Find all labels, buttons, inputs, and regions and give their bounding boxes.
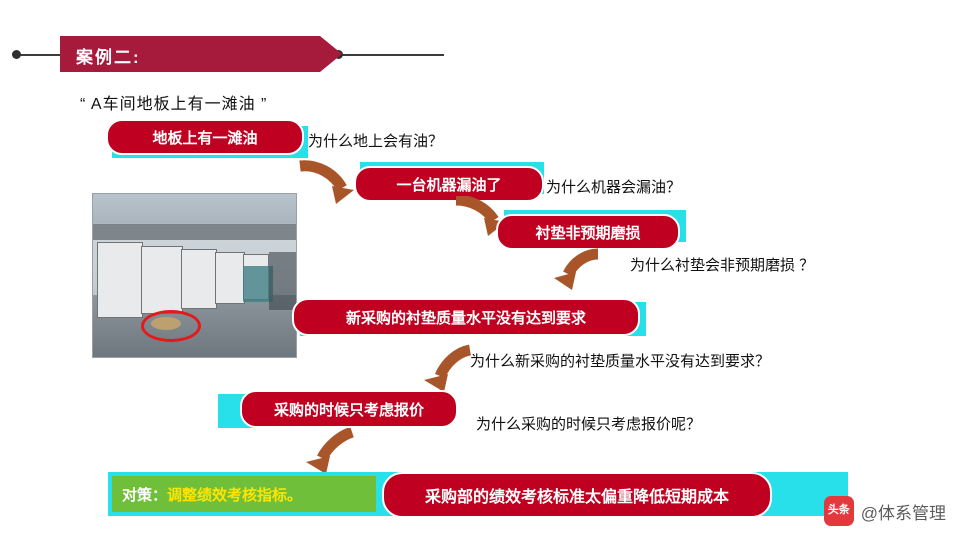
step-2-box: 一台机器漏油了 xyxy=(354,166,544,202)
countermeasure-value: 调整绩效考核指标。 xyxy=(167,484,302,505)
photo-machine xyxy=(181,249,217,309)
arrow-step-1-to-2 xyxy=(296,160,360,208)
arrow-step-5-to-conclusion xyxy=(300,428,366,478)
header-banner-label: 案例二: xyxy=(76,43,141,68)
countermeasure-bar: 对策： 调整绩效考核指标。 xyxy=(112,476,376,512)
header-dot-left xyxy=(12,50,21,59)
countermeasure-label: 对策： xyxy=(112,484,167,505)
photo-ceiling-beam xyxy=(93,224,296,240)
step-4-box: 新采购的衬垫质量水平没有达到要求 xyxy=(292,298,640,336)
step-4-question: 为什么新采购的衬垫质量水平没有达到要求？ xyxy=(470,350,770,371)
step-3-box: 衬垫非预期磨损 xyxy=(496,214,680,250)
root-cause-box: 采购部的绩效考核标准太偏重降低短期成本 xyxy=(382,472,772,518)
watermark-text: @体系管理 xyxy=(861,499,946,524)
step-5-question: 为什么采购的时候只考虑报价呢？ xyxy=(476,413,701,434)
arrow-step-4-to-5 xyxy=(416,344,482,396)
arrow-step-3-to-4 xyxy=(548,248,610,296)
workshop-photo xyxy=(92,193,297,358)
page-title: “ A车间地板上有一滩油 ” xyxy=(80,90,267,114)
watermark: 头条 @体系管理 xyxy=(824,496,946,526)
step-1-box: 地板上有一滩油 xyxy=(106,119,304,155)
photo-machine xyxy=(97,242,143,318)
toutiao-logo-icon: 头条 xyxy=(824,496,854,526)
step-1-question: 为什么地上会有油？ xyxy=(308,130,443,151)
slide-root: 案例二: “ A车间地板上有一滩油 ” 地板上有一滩油 为什么地上会有油？ 一台… xyxy=(0,0,960,540)
step-2-question: 为什么机器会漏油？ xyxy=(546,176,681,197)
step-3-question: 为什么衬垫会非预期磨损 ？ xyxy=(630,254,814,275)
header-banner-arrow xyxy=(320,36,342,72)
photo-machine xyxy=(141,246,183,314)
photo-machine xyxy=(215,252,245,304)
step-5-box: 采购的时候只考虑报价 xyxy=(240,390,458,428)
photo-oil-highlight-circle xyxy=(141,310,201,342)
photo-background xyxy=(269,252,296,310)
